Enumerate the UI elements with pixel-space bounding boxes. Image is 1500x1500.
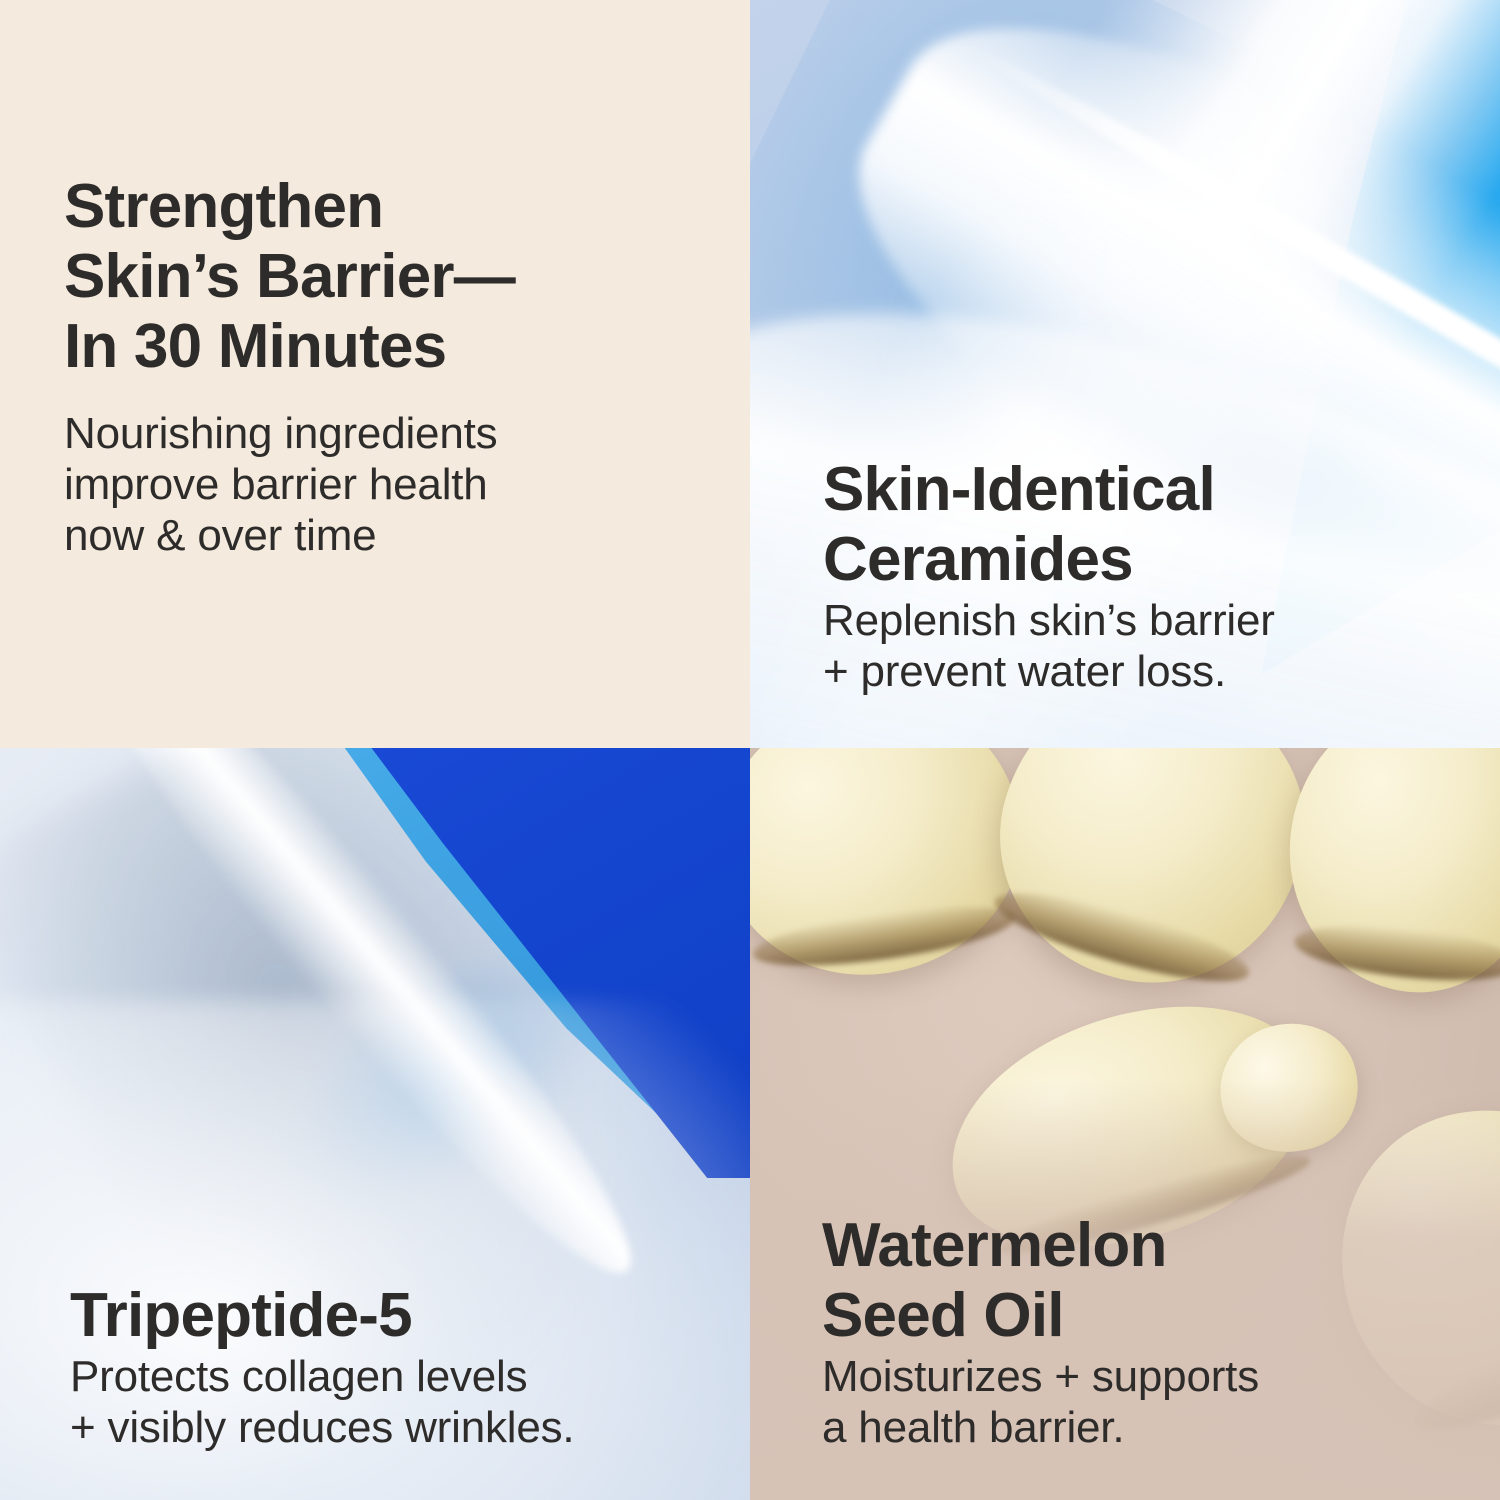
panel-strengthen-barrier: Strengthen Skin’s Barrier— In 30 Minutes… [0,0,750,748]
panel-headline: Tripeptide-5 [70,1281,730,1351]
panel-headline: Skin-Identical Ceramides [823,455,1463,595]
benefits-infographic: Strengthen Skin’s Barrier— In 30 Minutes… [0,0,1500,1500]
panel-subline: Moisturizes + supports a health barrier. [822,1351,1482,1453]
panel-tripeptide-5: Tripeptide-5 Protects collagen levels + … [0,748,750,1500]
panel-headline: Strengthen Skin’s Barrier— In 30 Minutes [64,172,704,382]
watermelon-seed [750,748,1037,994]
watermelon-seed [1276,748,1500,1005]
panel-copy: Tripeptide-5 Protects collagen levels + … [70,1281,730,1453]
panel-watermelon-seed-oil: Watermelon Seed Oil Moisturizes + suppor… [750,748,1500,1500]
panel-skin-identical-ceramides: Skin-Identical Ceramides Replenish skin’… [750,0,1500,748]
panel-copy: Watermelon Seed Oil Moisturizes + suppor… [822,1211,1482,1453]
panel-copy: Strengthen Skin’s Barrier— In 30 Minutes… [64,172,704,561]
panel-subline: Protects collagen levels + visibly reduc… [70,1351,730,1453]
panel-subline: Nourishing ingredients improve barrier h… [64,408,704,561]
panel-headline: Watermelon Seed Oil [822,1211,1482,1351]
panel-copy: Skin-Identical Ceramides Replenish skin’… [823,455,1463,697]
panel-subline: Replenish skin’s barrier + prevent water… [823,595,1463,697]
watermelon-seed [966,748,1337,1018]
